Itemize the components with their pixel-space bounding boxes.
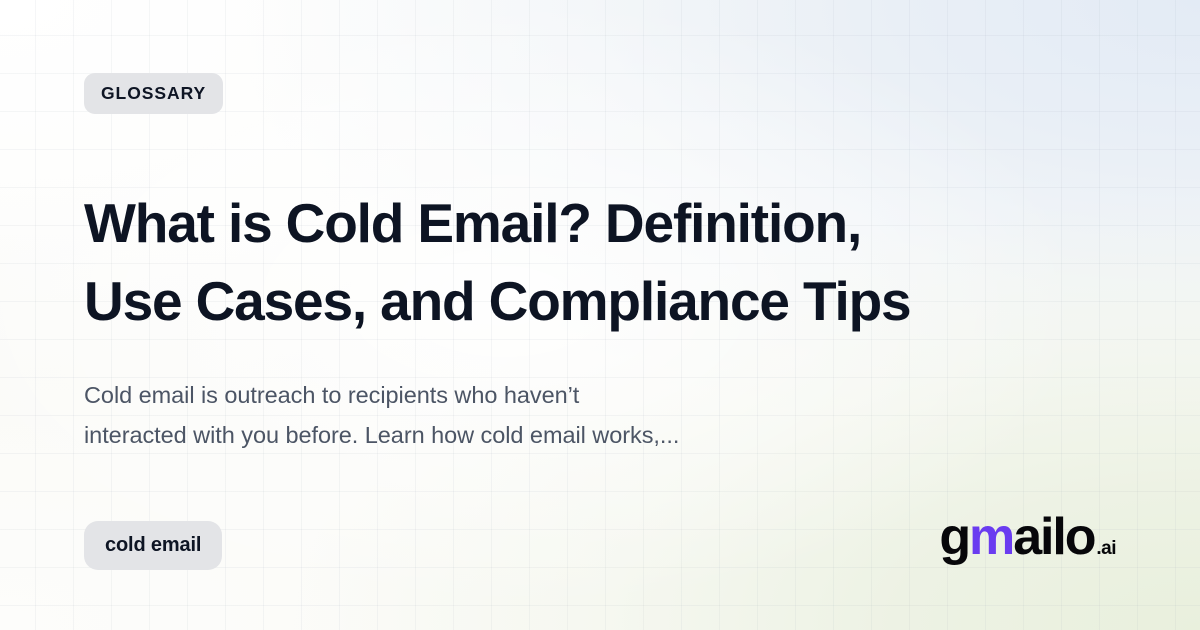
brand-logo-letter-g: g bbox=[939, 511, 969, 563]
topic-tag: cold email bbox=[84, 521, 222, 570]
brand-logo-letter-m-accent: m bbox=[969, 511, 1013, 563]
topic-tag-label: cold email bbox=[105, 534, 201, 557]
page-description: Cold email is outreach to recipients who… bbox=[84, 375, 904, 455]
page-description-line-2: interacted with you before. Learn how co… bbox=[84, 422, 679, 448]
category-badge: GLOSSARY bbox=[84, 73, 223, 114]
page-title-line-1: What is Cold Email? Definition, bbox=[84, 192, 861, 254]
card-content: GLOSSARY What is Cold Email? Definition,… bbox=[0, 0, 1200, 630]
brand-logo-wordmark: gmailo bbox=[939, 511, 1094, 563]
brand-logo-tld-suffix: .ai bbox=[1096, 539, 1116, 558]
brand-logo-letters-ailo: ailo bbox=[1013, 511, 1094, 563]
page-description-line-1: Cold email is outreach to recipients who… bbox=[84, 382, 579, 408]
category-badge-label: GLOSSARY bbox=[101, 83, 206, 104]
brand-logo: gmailo .ai bbox=[939, 511, 1116, 563]
page-title-line-2: Use Cases, and Compliance Tips bbox=[84, 270, 910, 332]
og-share-card: GLOSSARY What is Cold Email? Definition,… bbox=[0, 0, 1200, 630]
page-title: What is Cold Email? Definition, Use Case… bbox=[84, 184, 1094, 340]
